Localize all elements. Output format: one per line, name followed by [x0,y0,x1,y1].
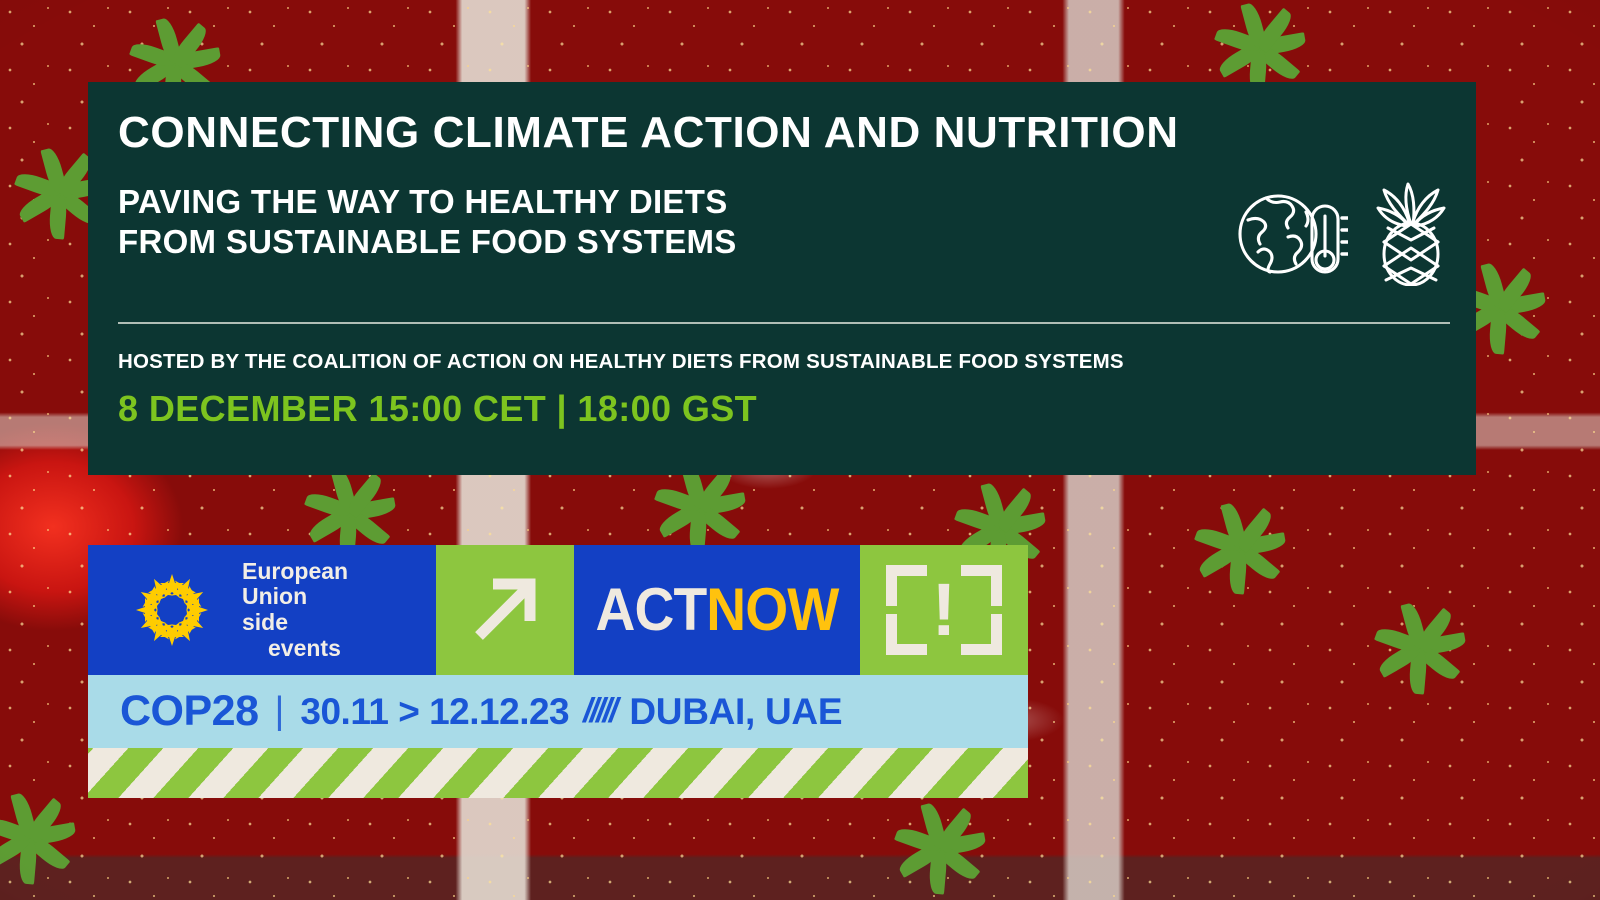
cop28-dates: 30.11 > 12.12.23 [300,691,569,733]
act-word: ACT [596,576,707,643]
arrow-panel[interactable] [436,545,574,675]
eu-label-line-3: side [242,610,348,636]
eu-side-events-label: European Union side events [242,559,348,662]
cop28-separator: | [275,690,285,733]
subtitle-line-2: FROM SUSTAINABLE FOOD SYSTEMS [118,222,737,262]
header-icon-group [1236,182,1450,286]
divider [118,322,1450,324]
corner-bracket-bottom-right-icon [961,614,1002,655]
cop28-info-bar: COP28 | 30.11 > 12.12.23 ///// DUBAI, UA… [88,675,1028,748]
badge-strip: European Union side events ACTNOW [88,545,1028,675]
act-now-panel[interactable]: ACTNOW [574,545,860,675]
hosted-by-text: HOSTED BY THE COALITION OF ACTION ON HEA… [118,350,1124,374]
eu-label-line-1: European [242,559,348,585]
eu-side-events-logo[interactable]: European Union side events [88,545,436,675]
striped-footer-band [88,748,1028,798]
eu-label-line-2: Union [242,584,348,610]
event-header-panel: CONNECTING CLIMATE ACTION AND NUTRITION … [88,82,1476,475]
exclamation-panel[interactable]: ! [860,545,1028,675]
cop28-label: COP28 [120,687,259,736]
exclamation-mark: ! [932,573,957,647]
corner-bracket-bottom-left-icon [886,614,927,655]
now-word: NOW [706,576,838,643]
eu-label-line-4: events [242,636,348,662]
poster-canvas: CONNECTING CLIMATE ACTION AND NUTRITION … [0,0,1600,900]
subtitle-line-1: PAVING THE WAY TO HEALTHY DIETS [118,182,737,222]
globe-thermometer-icon [1236,182,1348,286]
act-now-wordmark: ACTNOW [596,580,839,640]
cop28-slashes: ///// [583,692,615,731]
eu-stars-icon [120,558,224,662]
cop28-location: DUBAI, UAE [629,691,842,733]
corner-bracket-top-right-icon [961,565,1002,606]
page-subtitle: PAVING THE WAY TO HEALTHY DIETS FROM SUS… [118,182,737,261]
event-datetime: 8 DECEMBER 15:00 CET | 18:00 GST [118,388,757,430]
page-title: CONNECTING CLIMATE ACTION AND NUTRITION [118,111,1179,155]
pineapple-icon [1372,182,1450,286]
corner-bracket-top-left-icon [886,565,927,606]
cop28-badge-block: European Union side events ACTNOW [88,545,1028,798]
arrow-up-right-icon [467,572,543,648]
